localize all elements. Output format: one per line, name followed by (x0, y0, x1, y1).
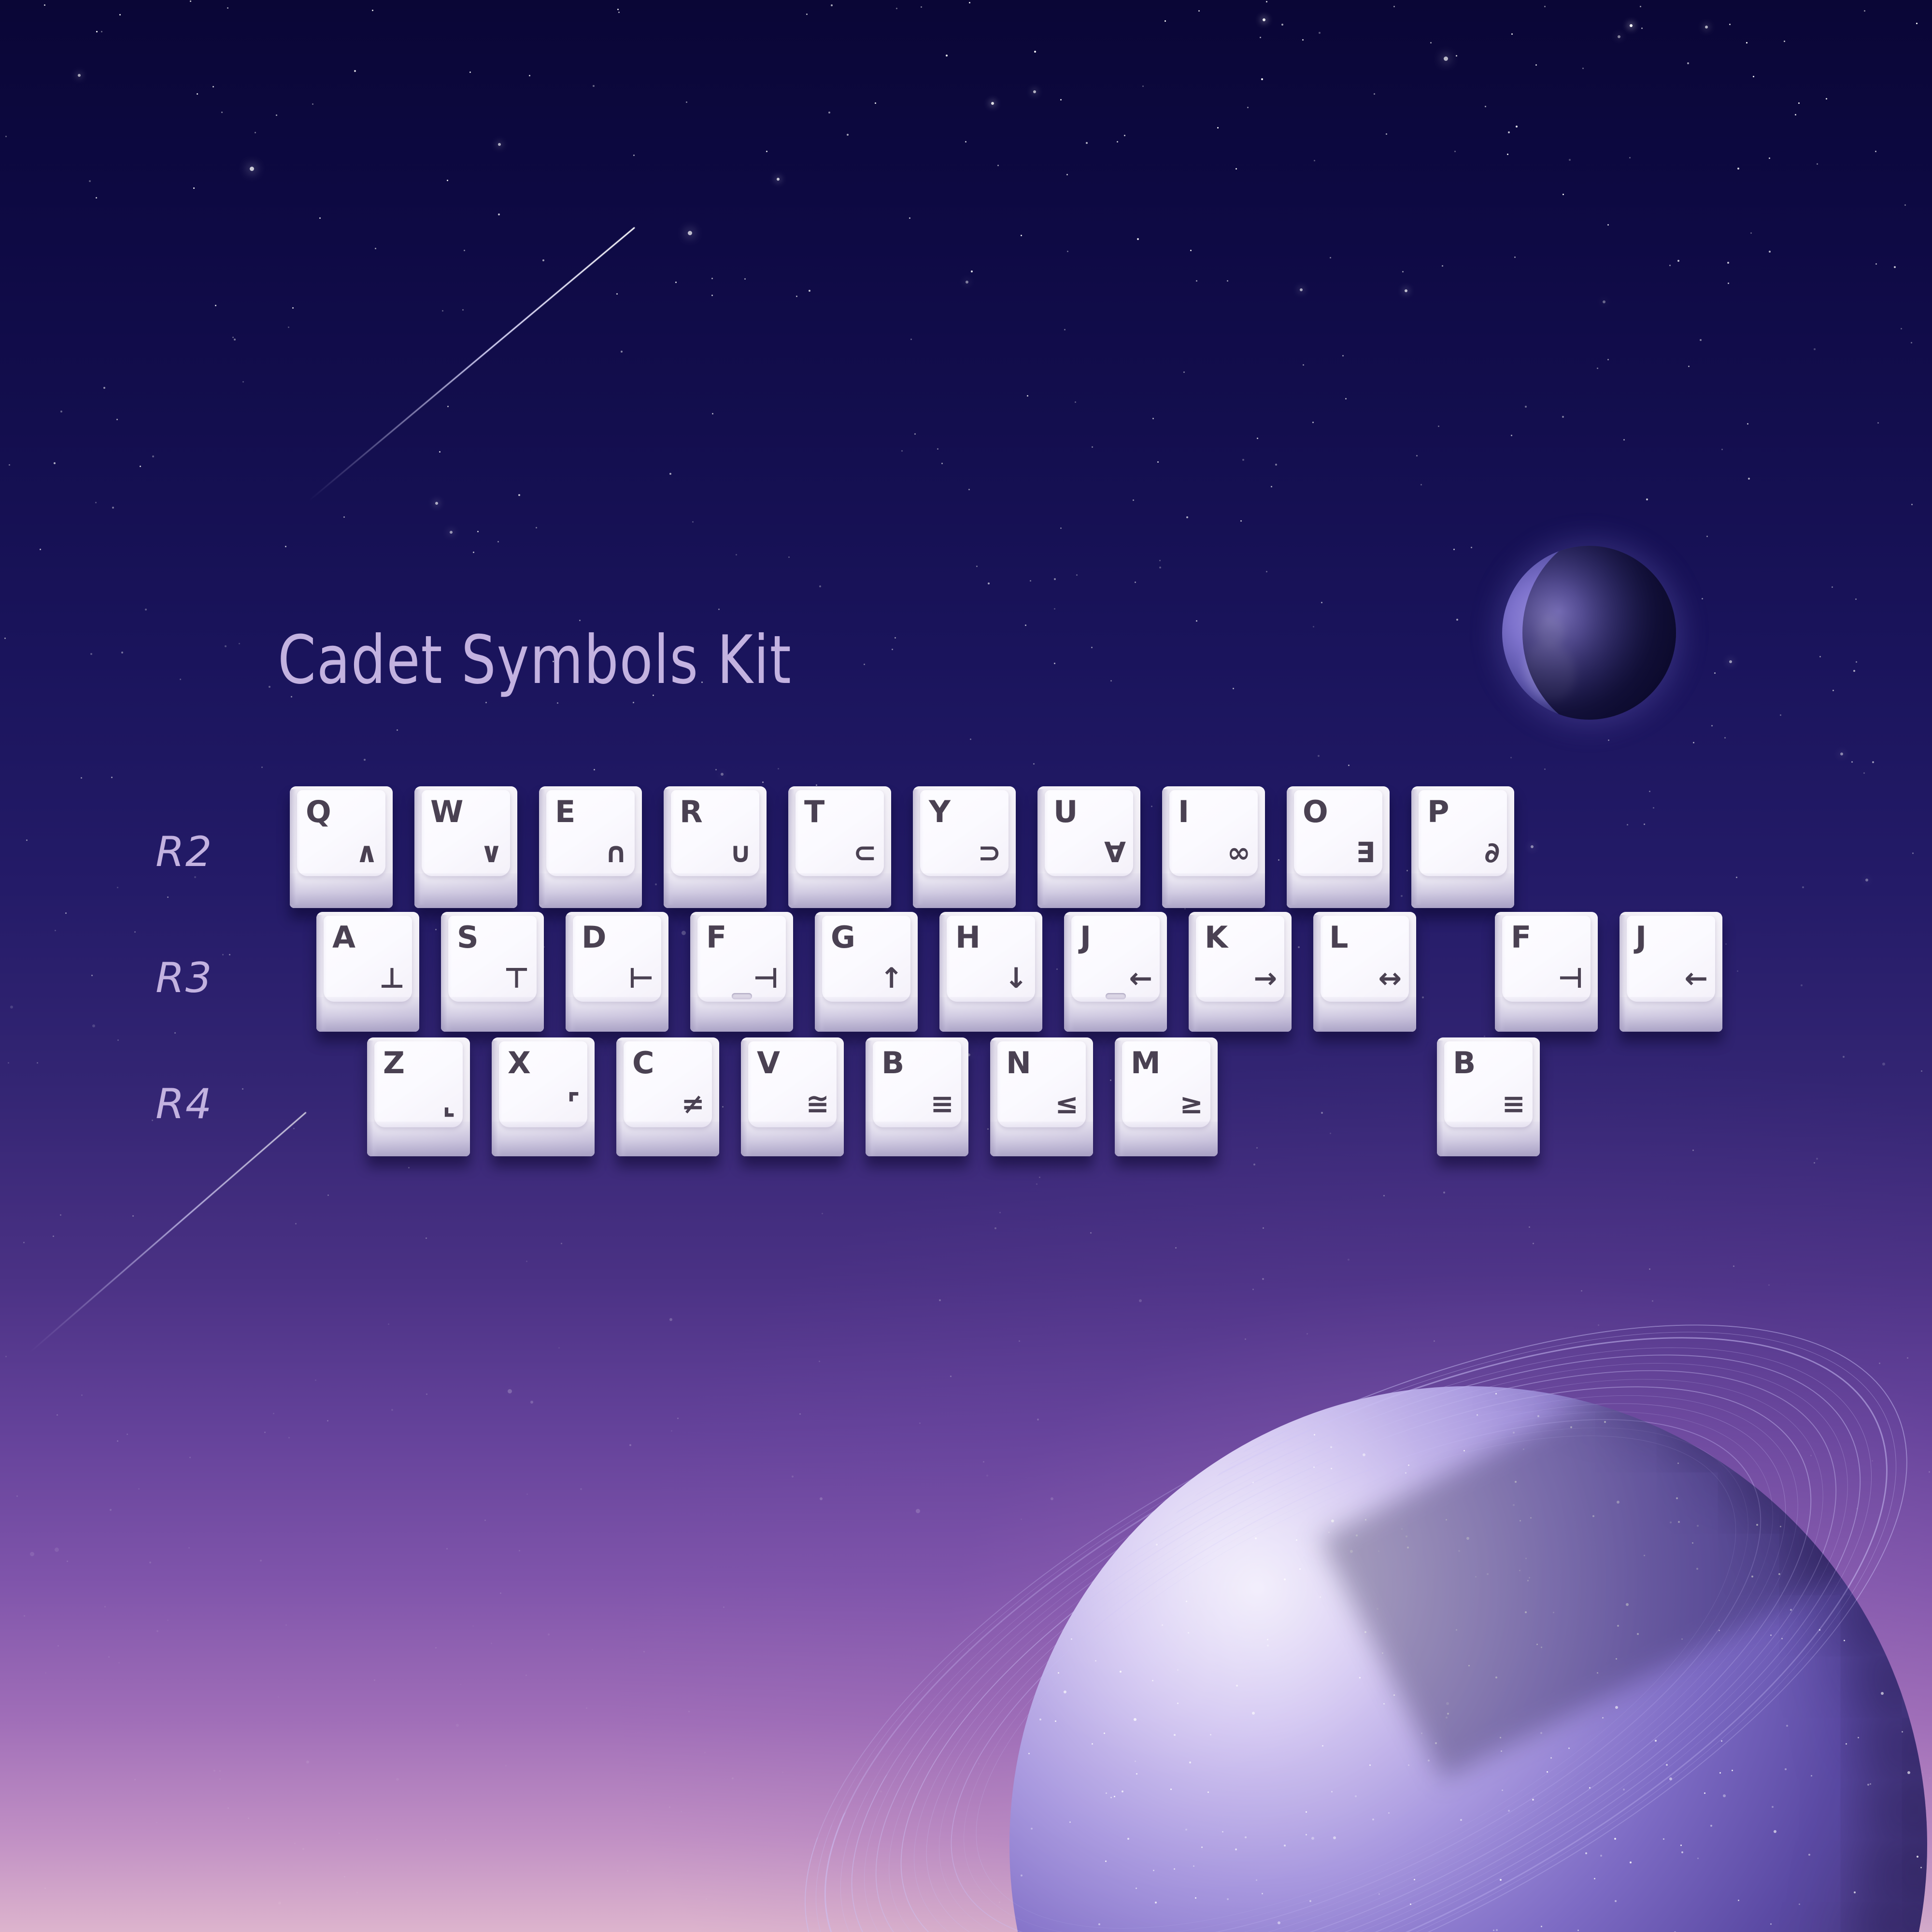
keycap-surface[interactable]: D ⊢ (566, 912, 668, 1032)
keycap-letter: E (555, 797, 575, 827)
keycap-r4-v[interactable]: V ≅ (741, 1037, 844, 1156)
keycap-r2-p[interactable]: P ∂ (1411, 786, 1514, 908)
keycap-r4-x[interactable]: X ⌜ (492, 1037, 595, 1156)
keycap-surface[interactable]: F ⊣ (690, 912, 793, 1032)
keycap-letter: B (1453, 1048, 1476, 1078)
keycap-r3-s[interactable]: S ⊤ (441, 912, 544, 1032)
keycap-symbol-greater-than-or-equal: ≥ (1179, 1090, 1203, 1118)
keycap-surface[interactable]: Z ⌞ (367, 1037, 470, 1156)
keycap-letter: N (1006, 1048, 1031, 1078)
keycap-skirt (539, 873, 642, 908)
keycap-skirt (566, 997, 668, 1032)
keycap-letter: V (757, 1048, 780, 1078)
keycap-letter: Q (306, 797, 331, 827)
keycap-letter: U (1053, 797, 1078, 827)
keycap-skirt (1411, 873, 1514, 908)
keycap-skirt (1313, 997, 1416, 1032)
keycap-surface[interactable]: P ∂ (1411, 786, 1514, 908)
keycap-skirt (866, 1122, 968, 1156)
keycap-surface[interactable]: B ≡ (866, 1037, 968, 1156)
keycap-letter: D (582, 923, 606, 952)
keycap-skirt (664, 873, 767, 908)
keycap-letter: R (680, 797, 703, 827)
keycap-skirt (1437, 1122, 1540, 1156)
keycap-surface[interactable]: T ⊂ (788, 786, 891, 908)
keycap-symbol-left-tack: ⊣ (1558, 964, 1583, 992)
keycap-surface[interactable]: X ⌜ (492, 1037, 595, 1156)
keycap-symbol-identical-to: ≡ (1502, 1090, 1525, 1118)
keycap-symbol-less-than-or-equal: ≤ (1055, 1090, 1079, 1118)
keycap-surface[interactable]: M ≥ (1115, 1037, 1218, 1156)
keycap-letter: X (508, 1048, 531, 1078)
keycap-surface[interactable]: K → (1189, 912, 1292, 1032)
keycap-surface[interactable]: H ↓ (939, 912, 1042, 1032)
keycap-letter: C (632, 1048, 654, 1078)
keycap-r3-j[interactable]: J ← (1064, 912, 1167, 1032)
keycap-symbol-arrow-left: ← (1684, 964, 1708, 992)
keycap-r2-w[interactable]: W ∨ (414, 786, 517, 908)
keycap-skirt (1037, 873, 1140, 908)
keycap-r2-r[interactable]: R ∪ (664, 786, 767, 908)
keycap-skirt (414, 873, 517, 908)
keycap-surface[interactable]: F ⊣ (1495, 912, 1598, 1032)
keycap-r4-b[interactable]: B ≡ (866, 1037, 968, 1156)
keycap-symbol-there-exists: ∃ (1356, 838, 1375, 867)
keycap-symbol-logical-and: ∧ (355, 838, 378, 867)
keycap-surface[interactable]: Y ⊃ (913, 786, 1016, 908)
keycap-surface[interactable]: C ≠ (616, 1037, 719, 1156)
keycap-symbol-approximately-equal-to: ≅ (806, 1090, 829, 1118)
keycap-letter: M (1131, 1048, 1161, 1078)
keycap-symbol-arrow-down: ↓ (1004, 964, 1028, 992)
keycap-surface[interactable]: W ∨ (414, 786, 517, 908)
keycap-surface[interactable]: J ← (1619, 912, 1722, 1032)
keycap-skirt (690, 997, 793, 1032)
keycap-surface[interactable]: B ≡ (1437, 1037, 1540, 1156)
keycap-skirt (741, 1122, 844, 1156)
keycap-letter: L (1329, 923, 1349, 952)
keycap-skirt (1287, 873, 1390, 908)
keycap-r3-l[interactable]: L ↔ (1313, 912, 1416, 1032)
keycap-letter: O (1303, 797, 1328, 827)
keycap-surface[interactable]: R ∪ (664, 786, 767, 908)
keycap-surface[interactable]: L ↔ (1313, 912, 1416, 1032)
keycap-r3-k[interactable]: K → (1189, 912, 1292, 1032)
keycap-symbol-superset-of: ⊃ (978, 838, 1001, 867)
keycap-letter: J (1080, 923, 1091, 952)
keycap-symbol-arrow-left-right: ↔ (1378, 964, 1402, 992)
keycap-symbol-down-tack: ⊤ (504, 964, 529, 992)
keycap-symbol-subset-of: ⊂ (853, 838, 877, 867)
keycap-alt-f[interactable]: F ⊣ (1495, 912, 1598, 1032)
keycap-symbol-left-tack: ⊣ (753, 964, 779, 992)
keycap-letter: F (1511, 923, 1531, 952)
keycap-r4-z[interactable]: Z ⌞ (367, 1037, 470, 1156)
keycap-letter: A (332, 923, 355, 952)
keycap-letter: S (457, 923, 479, 952)
keycap-letter: K (1205, 923, 1228, 952)
keycap-skirt (290, 873, 393, 908)
keycap-symbol-not-equal-to: ≠ (681, 1090, 705, 1118)
keycap-letter: F (706, 923, 726, 952)
keycap-symbol-top-left-corner: ⌜ (567, 1090, 580, 1118)
keycap-skirt (788, 873, 891, 908)
keycap-symbol-partial-differential: ∂ (1484, 838, 1500, 867)
keycap-surface[interactable]: J ← (1064, 912, 1167, 1032)
keycap-symbol-arrow-right: → (1253, 964, 1277, 992)
keycap-skirt (1064, 997, 1167, 1032)
keycap-letter: W (430, 797, 463, 827)
keycap-surface[interactable]: I ∞ (1162, 786, 1265, 908)
keycap-skirt (1115, 1122, 1218, 1156)
keycap-surface[interactable]: U ∀ (1037, 786, 1140, 908)
keycap-skirt (939, 997, 1042, 1032)
keycap-surface[interactable]: G ↑ (815, 912, 918, 1032)
keycap-skirt (913, 873, 1016, 908)
keycap-symbol-bottom-left-corner: ⌞ (442, 1090, 455, 1118)
keycap-symbol-identical-to: ≡ (930, 1090, 954, 1118)
keycap-skirt (441, 997, 544, 1032)
keycap-surface[interactable]: O ∃ (1287, 786, 1390, 908)
keycap-r3-g[interactable]: G ↑ (815, 912, 918, 1032)
keycap-symbol-union: ∪ (729, 838, 752, 867)
keycap-surface[interactable]: E ∩ (539, 786, 642, 908)
keycap-r4-c[interactable]: C ≠ (616, 1037, 719, 1156)
keycap-symbol-up-tack: ⊥ (379, 964, 405, 992)
keycap-letter: B (881, 1048, 904, 1078)
keycap-r2-e[interactable]: E ∩ (539, 786, 642, 908)
keycap-r3-a[interactable]: A ⊥ (316, 912, 419, 1032)
keycap-skirt (1162, 873, 1265, 908)
keycap-r2-t[interactable]: T ⊂ (788, 786, 891, 908)
homing-bar (1106, 993, 1126, 999)
keycap-skirt (492, 1122, 595, 1156)
keycap-letter: P (1427, 797, 1449, 827)
keycap-letter: H (955, 923, 980, 952)
keycap-surface[interactable]: S ⊤ (441, 912, 544, 1032)
keycap-alt-b[interactable]: B ≡ (1437, 1037, 1540, 1156)
keycap-skirt (1189, 997, 1292, 1032)
keycap-skirt (316, 997, 419, 1032)
keycap-surface[interactable]: Q ∧ (290, 786, 393, 908)
keycap-symbol-infinity: ∞ (1227, 838, 1250, 867)
keycap-r3-f[interactable]: F ⊣ (690, 912, 793, 1032)
poster-canvas: Cadet Symbols Kit R2 R3 R4 Q ∧ W ∨ (0, 0, 1932, 1932)
keycap-symbol-logical-or: ∨ (480, 838, 503, 867)
keycap-symbol-intersection: ∩ (605, 838, 627, 867)
keycap-symbol-right-tack: ⊢ (628, 964, 654, 992)
keycap-r2-u[interactable]: U ∀ (1037, 786, 1140, 908)
keycap-letter: J (1635, 923, 1647, 952)
keycap-skirt (1619, 997, 1722, 1032)
keycap-letter: T (804, 797, 824, 827)
keycap-skirt (815, 997, 918, 1032)
keycap-skirt (1495, 997, 1598, 1032)
keycap-set: Q ∧ W ∨ (0, 0, 1932, 1932)
keycap-surface[interactable]: N ≤ (990, 1037, 1093, 1156)
keycap-r2-o[interactable]: O ∃ (1287, 786, 1390, 908)
keycap-symbol-for-all: ∀ (1104, 838, 1126, 867)
keycap-skirt (367, 1122, 470, 1156)
keycap-r2-i[interactable]: I ∞ (1162, 786, 1265, 908)
keycap-letter: G (831, 923, 855, 952)
keycap-symbol-arrow-left: ← (1129, 964, 1152, 992)
homing-bar (732, 993, 752, 999)
keycap-skirt (990, 1122, 1093, 1156)
keycap-letter: Y (929, 797, 951, 827)
keycap-r4-m[interactable]: M ≥ (1115, 1037, 1218, 1156)
keycap-r4-n[interactable]: N ≤ (990, 1037, 1093, 1156)
keycap-symbol-arrow-up: ↑ (880, 964, 903, 992)
keycap-r2-q[interactable]: Q ∧ (290, 786, 393, 908)
keycap-surface[interactable]: A ⊥ (316, 912, 419, 1032)
keycap-alt-j[interactable]: J ← (1619, 912, 1722, 1032)
keycap-r3-d[interactable]: D ⊢ (566, 912, 668, 1032)
keycap-letter: I (1178, 797, 1189, 827)
keycap-r3-h[interactable]: H ↓ (939, 912, 1042, 1032)
keycap-surface[interactable]: V ≅ (741, 1037, 844, 1156)
keycap-r2-y[interactable]: Y ⊃ (913, 786, 1016, 908)
keycap-skirt (616, 1122, 719, 1156)
keycap-letter: Z (383, 1048, 405, 1078)
